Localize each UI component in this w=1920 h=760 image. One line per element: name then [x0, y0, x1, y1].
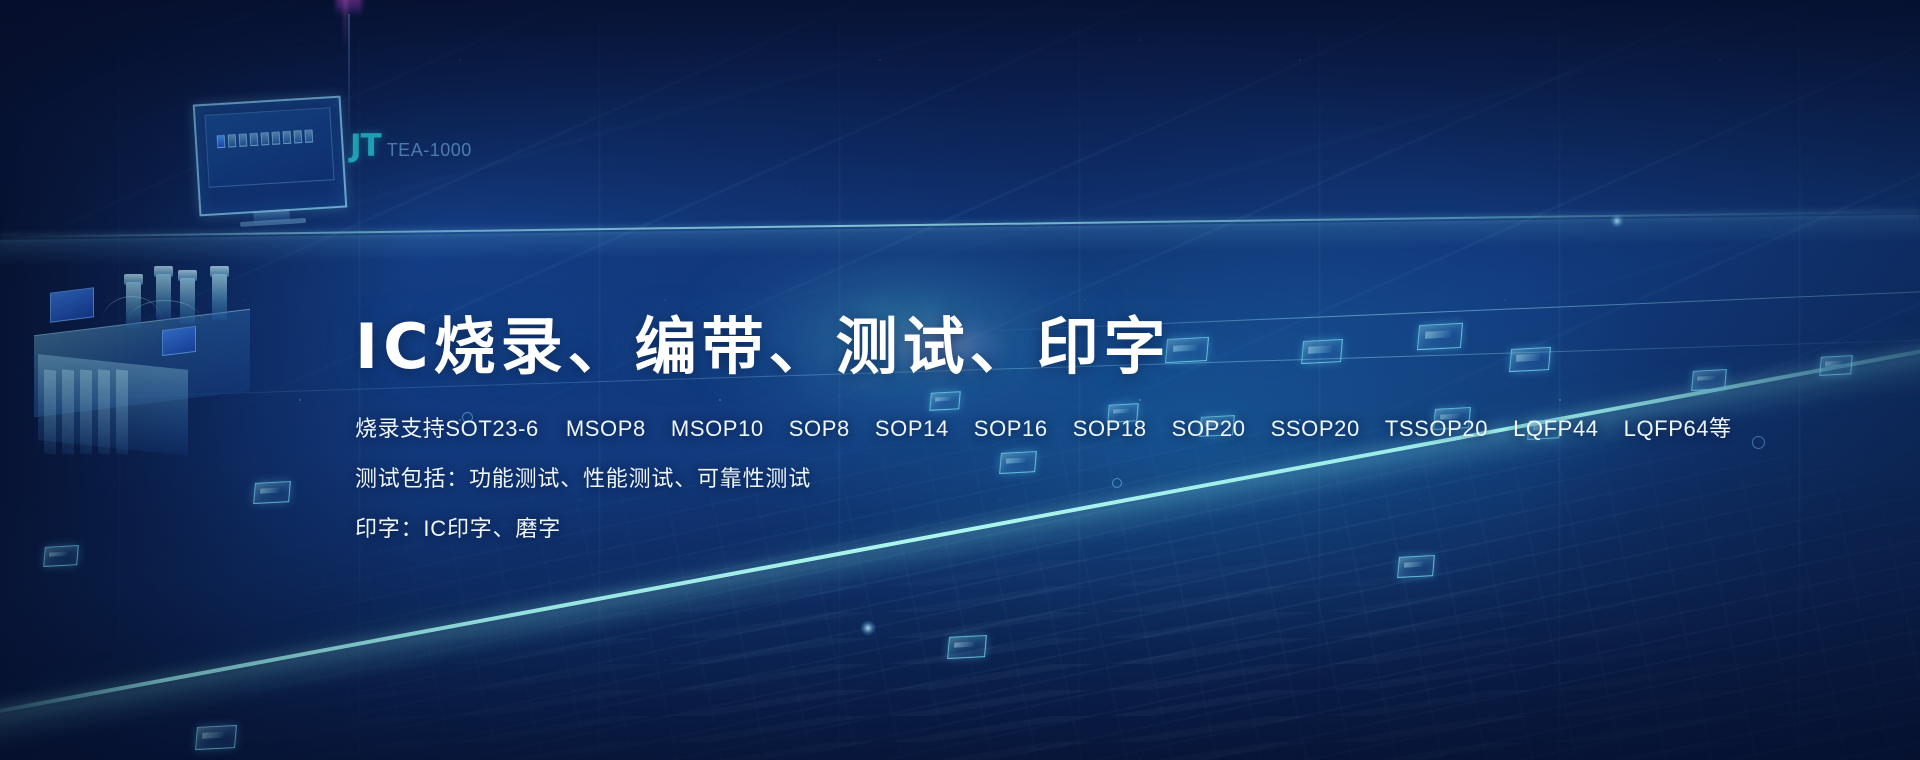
package-lqfp64: LQFP64: [1624, 416, 1710, 442]
machine-cylinder-cap: [210, 266, 229, 277]
machine-fin: [80, 369, 92, 454]
page-title: IC烧录、编带、测试、印字: [355, 312, 1595, 381]
floating-chip: [1819, 355, 1853, 376]
hero-banner: JT TEA-1000 IC烧录、编带、测试、印字 烧录支持SOT23-6 MS…: [0, 0, 1920, 760]
test-scope-line: 测试包括：功能测试、性能测试、可靠性测试: [355, 461, 1595, 493]
floating-chip: [1691, 369, 1727, 391]
machine-control-box: [162, 326, 196, 356]
equipment-model-label: TEA-1000: [387, 140, 472, 161]
burn-support-line: 烧录支持SOT23-6 MSOP8 MSOP10 SOP8 SOP14 SOP1…: [355, 411, 1595, 443]
floating-chip: [947, 635, 987, 659]
industrial-machine-illustration: [10, 222, 270, 442]
banner-content: IC烧录、编带、测试、印字 烧录支持SOT23-6 MSOP8 MSOP10 S…: [355, 312, 1595, 543]
glint-ring: [1752, 436, 1765, 449]
package-sop14: SOP14: [875, 416, 949, 442]
package-sop20: SOP20: [1172, 416, 1246, 442]
machine-cylinder-cap: [154, 266, 173, 277]
burn-support-lead: 烧录支持SOT23-6: [355, 411, 539, 443]
monitor-chip: [217, 135, 226, 148]
burn-support-tail: 等: [1709, 411, 1732, 443]
equipment-brand-label: JT: [350, 128, 381, 164]
monitor-chip: [261, 132, 270, 145]
floating-chip: [43, 545, 79, 567]
machine-lower-body: [38, 354, 188, 456]
magenta-light-beam: [344, 0, 347, 50]
machine-cylinder-cap: [124, 274, 143, 285]
machine-fin: [98, 369, 110, 454]
light-glint: [1610, 214, 1624, 228]
floating-chip: [1397, 555, 1435, 578]
machine-fin: [44, 369, 56, 454]
machine-cylinder: [212, 274, 227, 320]
machine-fin: [116, 369, 128, 454]
monitor-chip: [228, 134, 237, 147]
floating-chip: [253, 481, 291, 504]
machine-cylinder-cap: [178, 270, 197, 281]
machine-monitor: [193, 96, 348, 217]
monitor-chip: [304, 129, 313, 142]
machine-control-box: [50, 287, 94, 322]
monitor-frame: [193, 96, 348, 217]
monitor-chip: [250, 133, 259, 146]
package-lqfp44: LQFP44: [1513, 416, 1599, 442]
overhead-pole: [348, 14, 350, 132]
monitor-chip: [293, 130, 302, 143]
machine-fin: [62, 369, 74, 454]
package-msop8: MSOP8: [566, 416, 646, 442]
package-sop16: SOP16: [974, 416, 1048, 442]
monitor-chip: [239, 133, 248, 146]
package-sop8: SOP8: [789, 416, 850, 442]
light-glint: [860, 620, 876, 636]
equipment-brandmark: JT TEA-1000: [350, 128, 472, 164]
monitor-chip-row: [217, 129, 314, 148]
package-ssop20: SSOP20: [1271, 416, 1360, 442]
monitor-chip: [272, 131, 281, 144]
monitor-screen: [204, 107, 334, 188]
monitor-chip: [283, 131, 292, 144]
package-tssop20: TSSOP20: [1385, 416, 1488, 442]
marking-scope-line: 印字：IC印字、磨字: [355, 511, 1595, 543]
floating-chip: [195, 725, 237, 750]
package-msop10: MSOP10: [671, 416, 764, 442]
package-sop18: SOP18: [1073, 416, 1147, 442]
